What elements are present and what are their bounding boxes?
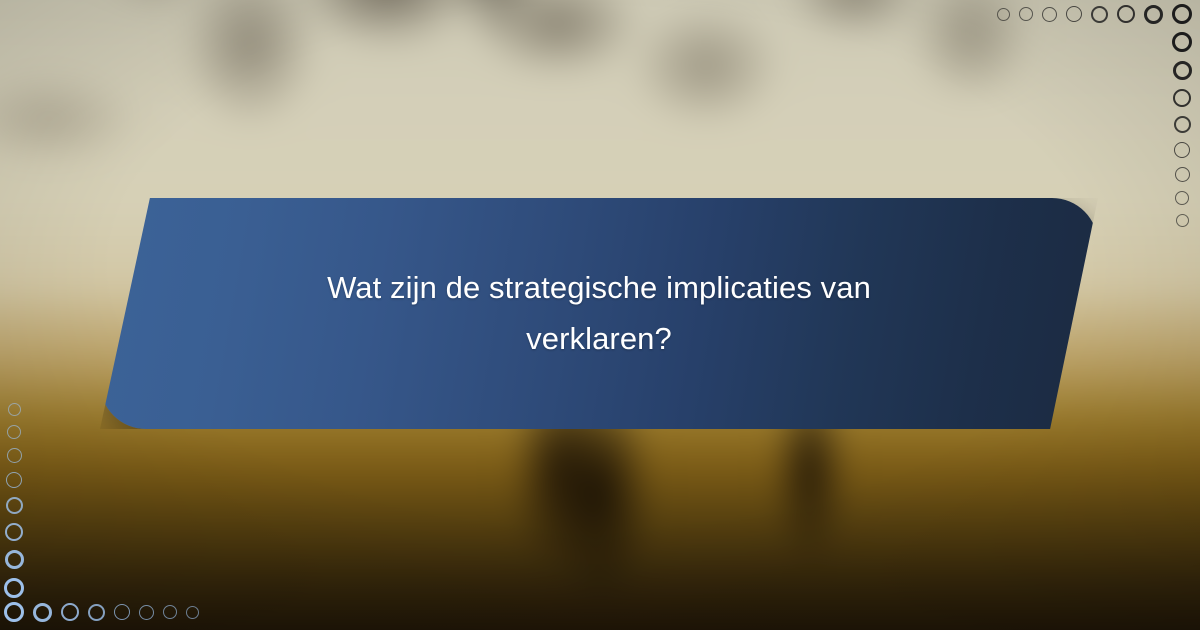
quote-card: Wat zijn de strategische implicaties van… <box>100 198 1098 429</box>
social-card-canvas: Wat zijn de strategische implicaties van… <box>0 0 1200 630</box>
quote-text: Wat zijn de strategische implicaties van… <box>249 263 949 363</box>
